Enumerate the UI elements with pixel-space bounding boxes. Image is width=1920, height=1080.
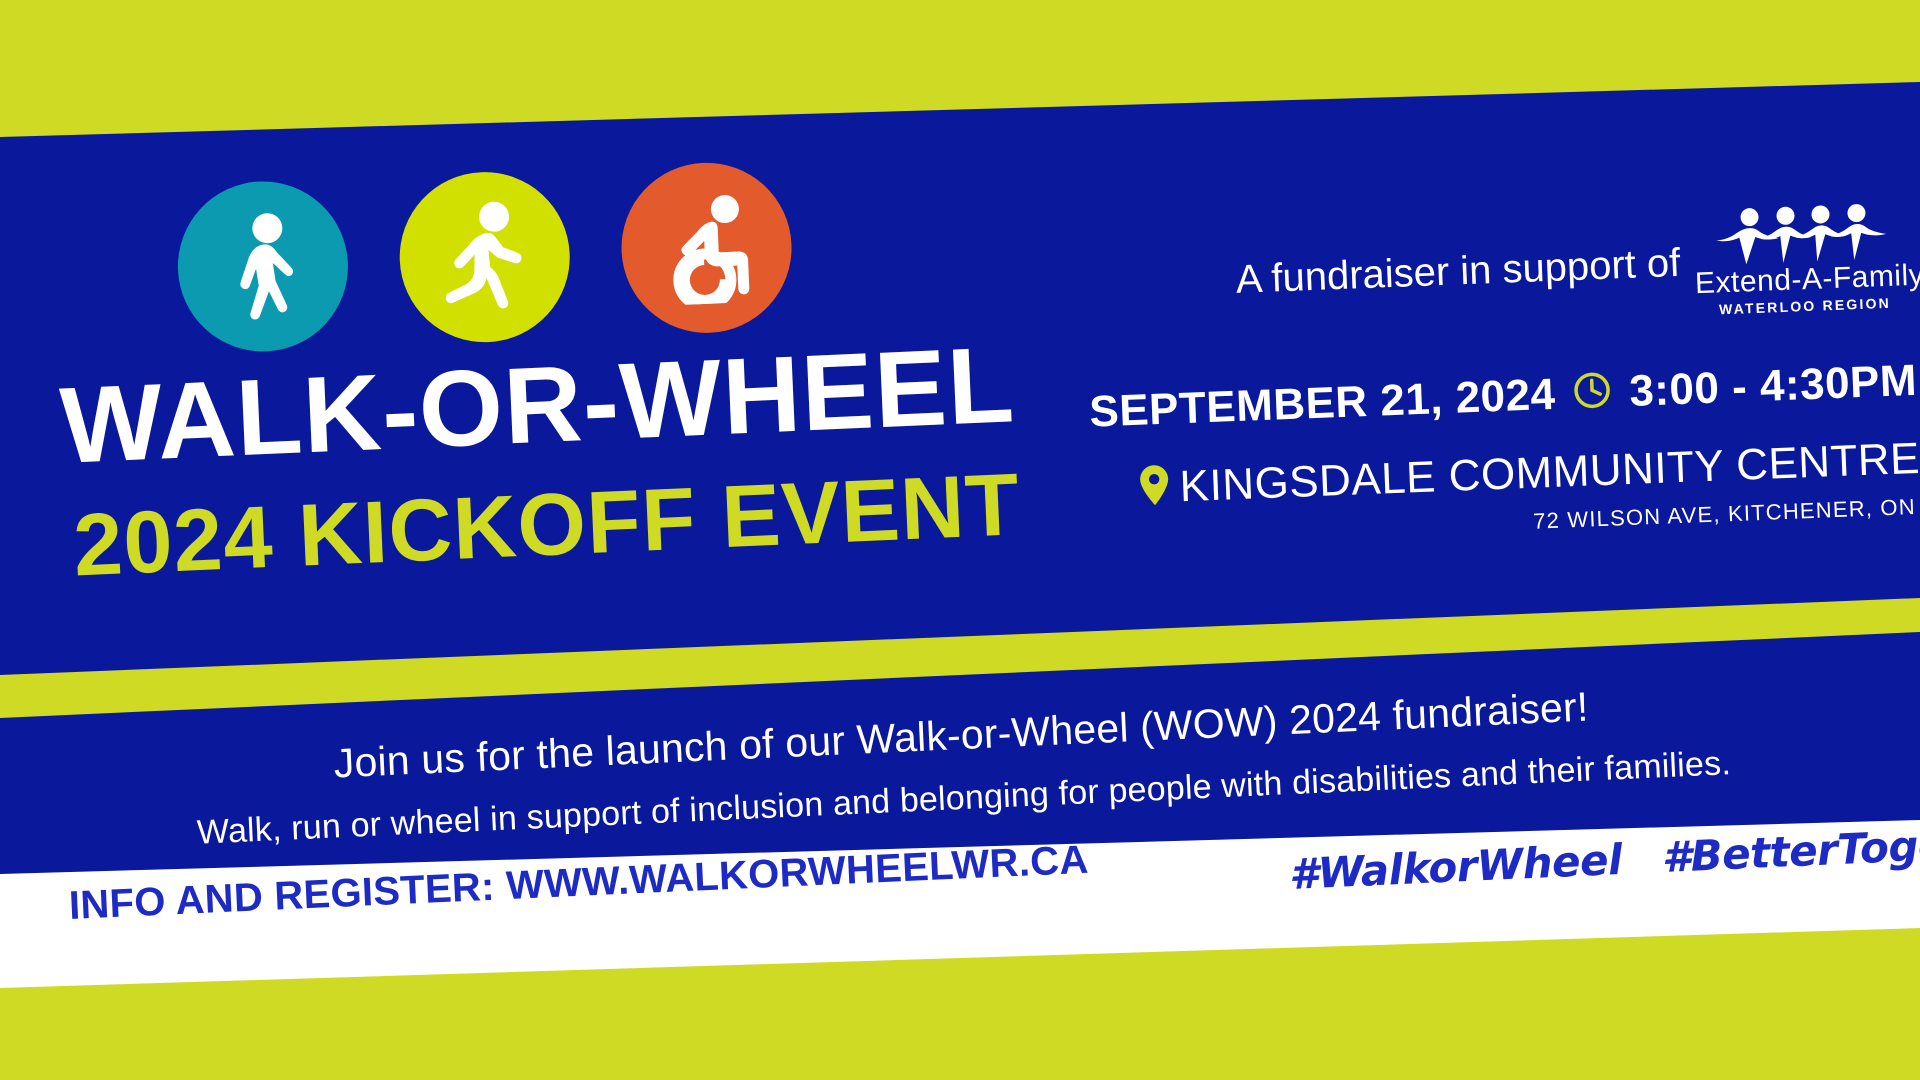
extend-a-family-logo: Extend-A-Family WATERLOO REGION — [1692, 200, 1914, 318]
activity-icon-row — [174, 159, 795, 355]
date-time-row: SEPTEMBER 21, 2024 3:00 - 4:30PM — [1087, 355, 1918, 437]
event-details-column: A fundraiser in support of Extend-A-Fami… — [1081, 200, 1920, 551]
wheelchair-accessible-icon — [648, 190, 765, 307]
event-time: 3:00 - 4:30PM — [1628, 355, 1917, 416]
clock-icon — [1573, 371, 1613, 415]
event-date: SEPTEMBER 21, 2024 — [1089, 369, 1557, 437]
headline-block: WALK-OR-WHEEL 2024 KICKOFF EVENT — [58, 330, 1022, 589]
event-poster: WALK-OR-WHEEL 2024 KICKOFF EVENT A fundr… — [0, 0, 1920, 1080]
wheelchair-icon-circle — [618, 159, 795, 336]
walking-person-icon — [213, 209, 314, 323]
run-icon-circle — [396, 169, 573, 346]
fundraiser-label: A fundraiser in support of — [1235, 241, 1681, 303]
walk-icon-circle — [174, 178, 351, 355]
map-pin-icon — [1139, 464, 1171, 512]
running-person-icon — [427, 199, 542, 316]
